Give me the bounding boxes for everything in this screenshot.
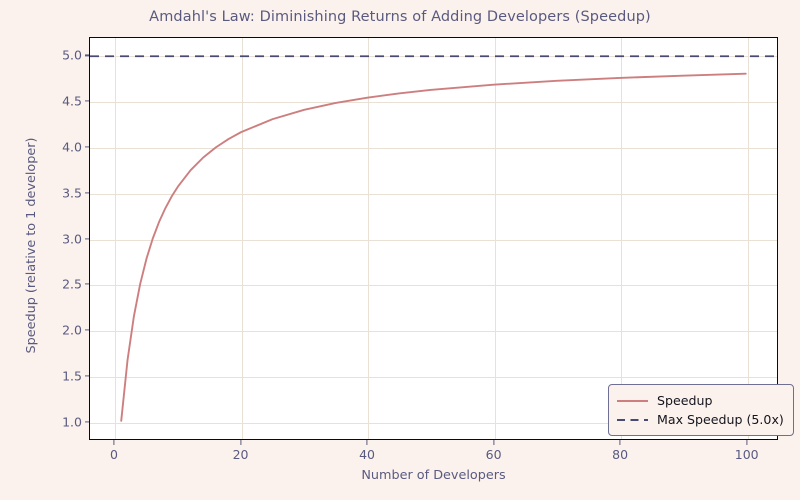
y-tick-mark	[85, 101, 90, 102]
y-tick-mark	[85, 329, 90, 330]
plot-area	[89, 37, 778, 440]
chart-title: Amdahl's Law: Diminishing Returns of Add…	[0, 9, 800, 25]
y-axis-label: Speedup (relative to 1 developer)	[24, 44, 39, 447]
x-tick-label: 20	[233, 447, 249, 462]
y-tick-mark	[85, 238, 90, 239]
y-tick-label: 1.5	[62, 368, 82, 383]
x-tick-label: 0	[110, 447, 118, 462]
legend-label: Max Speedup (5.0x)	[657, 412, 784, 427]
chart-figure: Amdahl's Law: Diminishing Returns of Add…	[0, 0, 800, 500]
data-series-layer	[90, 38, 777, 439]
y-tick-mark	[85, 192, 90, 193]
y-tick-label: 1.0	[62, 414, 82, 429]
y-tick-mark	[85, 421, 90, 422]
legend-item[interactable]: Max Speedup (5.0x)	[617, 410, 784, 429]
y-tick-label: 3.5	[62, 185, 82, 200]
legend-item[interactable]: Speedup	[617, 391, 784, 410]
x-tick-mark	[620, 440, 621, 445]
y-tick-mark	[85, 55, 90, 56]
y-tick-label: 2.0	[62, 323, 82, 338]
y-tick-mark	[85, 146, 90, 147]
y-tick-label: 5.0	[62, 48, 82, 63]
x-tick-mark	[493, 440, 494, 445]
x-axis-label: Number of Developers	[89, 468, 778, 483]
y-tick-label: 4.0	[62, 139, 82, 154]
x-tick-mark	[113, 440, 114, 445]
x-tick-label: 60	[486, 447, 502, 462]
plot-inner	[90, 38, 777, 439]
speedup-line	[121, 74, 746, 421]
x-tick-mark	[746, 440, 747, 445]
x-tick-label: 100	[735, 447, 759, 462]
y-tick-label: 4.5	[62, 94, 82, 109]
y-tick-mark	[85, 375, 90, 376]
legend-label: Speedup	[657, 393, 712, 408]
legend[interactable]: SpeedupMax Speedup (5.0x)	[608, 384, 794, 436]
y-tick-mark	[85, 284, 90, 285]
x-tick-label: 40	[359, 447, 375, 462]
x-tick-label: 80	[612, 447, 628, 462]
legend-line-swatch	[617, 413, 648, 427]
y-tick-label: 3.0	[62, 231, 82, 246]
x-tick-mark	[240, 440, 241, 445]
legend-line-swatch	[617, 394, 648, 408]
y-tick-label: 2.5	[62, 277, 82, 292]
x-tick-mark	[366, 440, 367, 445]
